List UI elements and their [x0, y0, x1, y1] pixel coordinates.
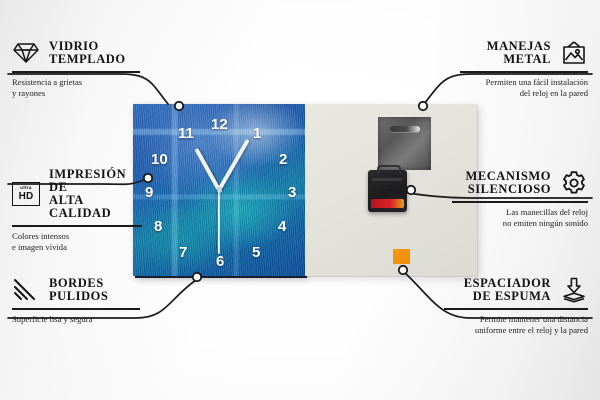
clock-numeral-8: 8 — [154, 219, 162, 234]
feature-desc: Permiten una fácil instalación del reloj… — [460, 77, 588, 99]
diamond-icon — [12, 40, 40, 66]
feature-bordes-pulidos: Bordes pulidos Superficie lisa y segura — [12, 277, 140, 325]
mechanism-hook — [377, 165, 401, 174]
clock-minute-hand — [217, 139, 249, 191]
feature-desc: Las manecillas del reloj no emiten ningú… — [452, 207, 588, 229]
feature-title: Vidrio templado — [49, 40, 126, 66]
clock-numeral-7: 7 — [179, 245, 187, 260]
feature-rule — [460, 71, 588, 73]
foam-spacer — [393, 249, 410, 264]
feature-espaciador-espuma: Espaciador de espuma Permite mantener un… — [444, 277, 588, 336]
mechanism-detail — [372, 178, 402, 181]
feature-rule — [444, 308, 588, 310]
clock-numeral-4: 4 — [278, 219, 286, 234]
feature-mecanismo-silencioso: Mecanismo silencioso Las manecillas del … — [452, 170, 588, 229]
clock-numeral-12: 12 — [211, 117, 228, 132]
feature-manejas-metal: Manejas metal Permiten una fácil instala… — [460, 40, 588, 99]
battery-strip — [371, 199, 404, 208]
hanger-slot — [390, 126, 420, 132]
clock-numeral-9: 9 — [145, 185, 153, 200]
ultra-hd-icon: ultra HD — [12, 181, 40, 207]
clock-numeral-6: 6 — [216, 254, 224, 269]
feature-title: Mecanismo silencioso — [465, 170, 551, 196]
quartz-mechanism — [368, 170, 407, 212]
clock-numeral-2: 2 — [279, 152, 287, 167]
infographic-canvas: 12 1 2 3 4 5 6 7 8 9 10 11 — [0, 0, 600, 400]
feature-title: Manejas metal — [487, 40, 551, 66]
clock-numeral-10: 10 — [151, 152, 168, 167]
feature-vidrio-templado: Vidrio templado Resistencia a grietas y … — [12, 40, 140, 99]
gear-icon — [560, 170, 588, 196]
feature-desc: Colores intensos e imagen vívida — [12, 231, 142, 253]
feature-rule — [12, 308, 140, 310]
feature-rule — [12, 225, 142, 227]
feature-impresion-alta-calidad: ultra HD Impresión de alta calidad Color… — [12, 168, 142, 253]
clock-numeral-11: 11 — [178, 126, 194, 141]
clock-second-hand — [218, 190, 220, 254]
feature-desc: Resistencia a grietas y rayones — [12, 77, 140, 99]
wall-hanging-icon — [560, 40, 588, 66]
ultra-hd-icon-main-text: HD — [19, 192, 34, 202]
clock-hand-cap — [217, 188, 222, 193]
foam-spacer-icon — [560, 277, 588, 303]
clock-face: 12 1 2 3 4 5 6 7 8 9 10 11 — [133, 104, 305, 276]
metal-hanger-plate — [378, 117, 431, 170]
feature-title: Impresión de alta calidad — [49, 168, 142, 220]
feature-desc: Superficie lisa y segura — [12, 314, 140, 325]
clock-numeral-5: 5 — [252, 245, 260, 260]
feature-title: Bordes pulidos — [49, 277, 108, 303]
clock-numeral-3: 3 — [288, 185, 296, 200]
feature-desc: Permite mantener una distancia uniforme … — [444, 314, 588, 336]
feature-rule — [452, 201, 588, 203]
feature-rule — [12, 71, 140, 73]
clock-numeral-1: 1 — [253, 126, 261, 141]
feature-title: Espaciador de espuma — [464, 277, 551, 303]
clock-hour-hand — [194, 148, 220, 191]
polished-edges-icon — [12, 277, 40, 303]
